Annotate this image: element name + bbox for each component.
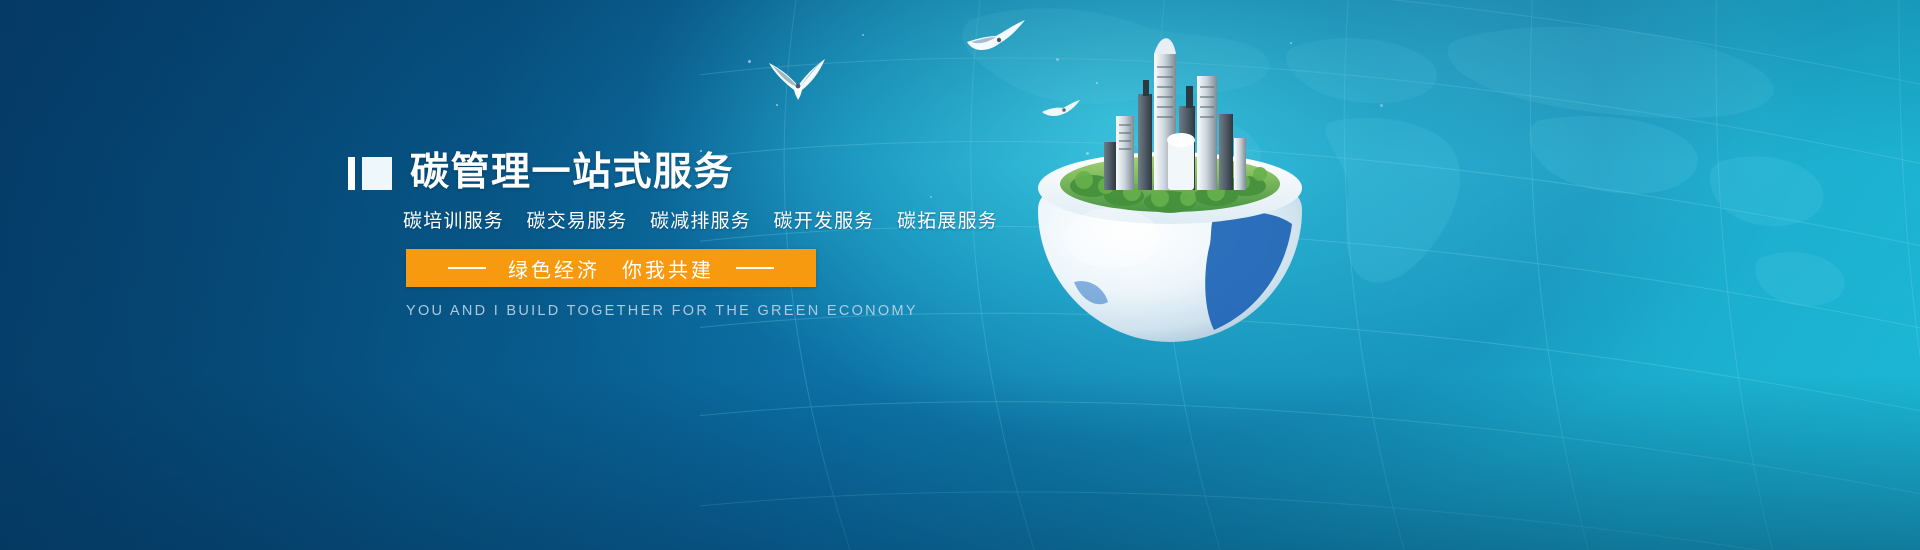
seagull-icon (765, 55, 831, 116)
dash-left-icon (448, 267, 486, 269)
bar-square-mark-icon (348, 157, 392, 190)
slogan-banner: 绿色经济你我共建 (406, 249, 816, 287)
title-row: 碳管理一站式服务 (348, 150, 1048, 196)
dash-right-icon (736, 267, 774, 269)
service-item-2: 碳减排服务 (650, 211, 751, 232)
slogan-right: 你我共建 (622, 260, 714, 282)
globe-city-illustration (1020, 20, 1320, 370)
english-tagline: YOU AND I BUILD TOGETHER FOR THE GREEN E… (406, 303, 1048, 319)
service-item-3: 碳开发服务 (774, 211, 875, 232)
seagull-icon (965, 18, 1027, 75)
hero-banner: 碳管理一站式服务 碳培训服务 碳交易服务 碳减排服务 碳开发服务 碳拓展服务 绿… (0, 0, 1920, 550)
service-item-0: 碳培训服务 (403, 211, 504, 232)
service-list: 碳培训服务 碳交易服务 碳减排服务 碳开发服务 碳拓展服务 (403, 206, 1048, 233)
service-item-4: 碳拓展服务 (897, 211, 998, 232)
banner-text-block: 碳管理一站式服务 碳培训服务 碳交易服务 碳减排服务 碳开发服务 碳拓展服务 绿… (348, 150, 1048, 319)
slogan-text: 绿色经济你我共建 (508, 254, 714, 283)
page-title: 碳管理一站式服务 (410, 151, 734, 195)
slogan-left: 绿色经济 (508, 260, 600, 282)
service-item-1: 碳交易服务 (527, 211, 628, 232)
